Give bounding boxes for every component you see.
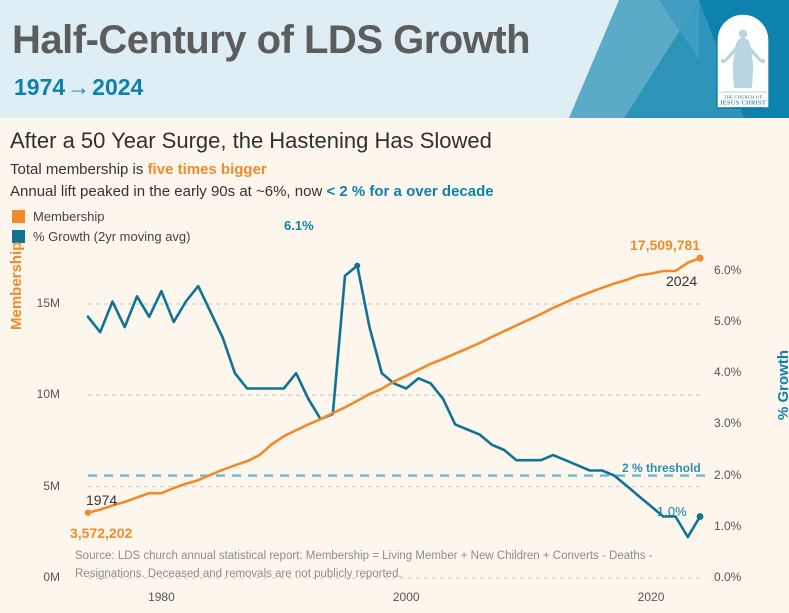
y-axis-right-tick-5: 5.0% <box>714 314 764 328</box>
infographic-page: Half-Century of LDS Growth 1974→2024 THE… <box>0 0 789 613</box>
annotation-membership-start: 3,572,202 <box>70 525 132 541</box>
y-axis-right-tick-3: 3.0% <box>714 416 764 430</box>
annotation-threshold: 2 % threshold <box>622 461 701 475</box>
y-axis-left-tick-1: 5M <box>14 479 60 493</box>
annotation-year-start: 1974 <box>86 492 117 508</box>
annotation-peak-growth: 6.1% <box>284 218 314 233</box>
y-axis-right-tick-2: 2.0% <box>714 468 764 482</box>
y-axis-right-tick-6: 6.0% <box>714 263 764 277</box>
chart-gridlines <box>88 304 700 578</box>
membership-start-marker <box>85 510 91 516</box>
y-axis-left-tick-3: 15M <box>14 296 60 310</box>
chart-plot-svg <box>0 0 789 613</box>
x-axis-tick-2020: 2020 <box>621 590 681 604</box>
y-axis-right-tick-4: 4.0% <box>714 365 764 379</box>
y-axis-left-tick-0: 0M <box>14 570 60 584</box>
y-axis-left-title: Membership <box>8 242 25 330</box>
source-note: Source: LDS church annual statistical re… <box>75 548 675 584</box>
x-axis-tick-2000: 2000 <box>376 590 436 604</box>
x-axis-tick-1980: 1980 <box>131 590 191 604</box>
y-axis-left-tick-2: 10M <box>14 387 60 401</box>
y-axis-right-tick-1: 1.0% <box>714 519 764 533</box>
annotation-year-end: 2024 <box>666 273 697 289</box>
y-axis-right-title: % Growth <box>775 350 789 420</box>
growth-end-marker <box>697 513 704 520</box>
annotation-end-growth: 1.0% <box>657 504 687 519</box>
growth-peak-marker <box>354 263 360 269</box>
y-axis-right-tick-0: 0.0% <box>714 570 764 584</box>
growth-line <box>88 266 700 537</box>
chart-area: Membership % Growth 0M 5M 10M 15M 0.0% 1… <box>0 0 789 613</box>
membership-end-marker <box>696 254 703 261</box>
annotation-membership-end: 17,509,781 <box>630 237 700 253</box>
